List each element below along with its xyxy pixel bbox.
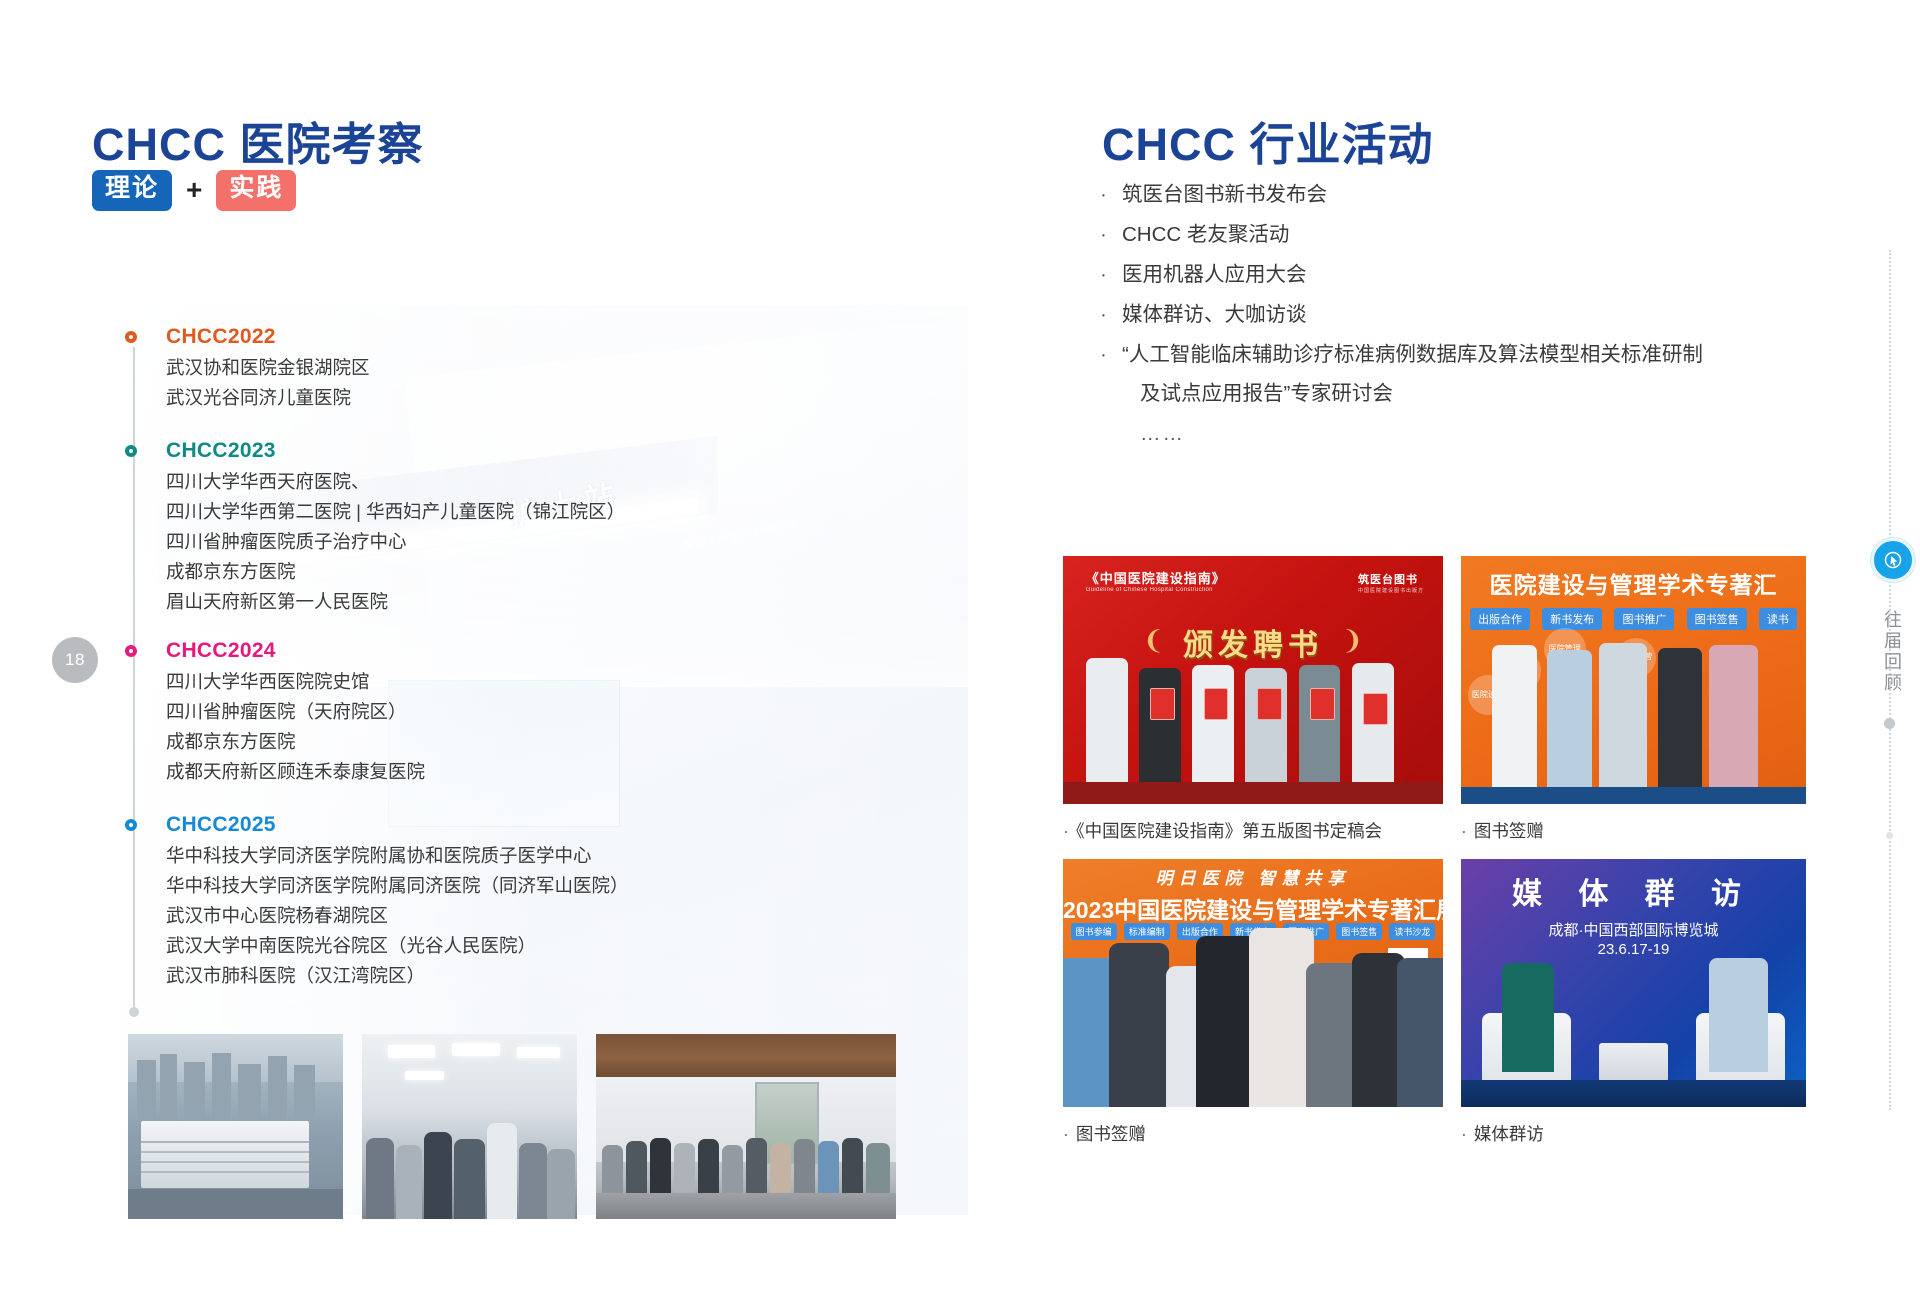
award-ceremony-photo[interactable]: 《中国医院建设指南》 Guideline of Chinese Hospital… — [1063, 556, 1443, 804]
timeline-body: CHCC2022武汉协和医院金银湖院区武汉光谷同济儿童医院 — [166, 325, 838, 413]
timeline-end-dot — [129, 1007, 139, 1017]
media-headline: 媒 体 群 访 — [1461, 869, 1806, 913]
interviewee — [1709, 958, 1768, 1072]
hospital-building — [141, 1121, 309, 1188]
hospital-list-item: 成都京东方医院 — [166, 557, 838, 587]
bullet-icon: · — [1100, 215, 1107, 255]
tag: 图书参编 — [1071, 923, 1117, 940]
attendee — [1249, 928, 1314, 1107]
hospital-list-item: 成都京东方医院 — [166, 727, 838, 757]
gallery-row-1: 《中国医院建设指南》 Guideline of Chinese Hospital… — [1063, 556, 1808, 843]
page-title-hospital-tour: CHCC 医院考察 — [92, 108, 424, 173]
tag: 读书 — [1759, 608, 1797, 630]
gallery-cell-signing: 医院建设与管理学术专著汇 出版合作 新书发布 图书推广 图书签售 读书 医院设计… — [1461, 556, 1806, 843]
bullet-icon: · — [1063, 821, 1069, 841]
activity-label: 媒体群访、大咖访谈 — [1122, 303, 1307, 326]
left-panel: CHCC 医院考察 理论 + 实践 护士站 Nursing Station CH… — [0, 0, 980, 1302]
laurel-right-icon: ❩ — [1341, 625, 1363, 656]
badge-theory: 理论 — [92, 170, 172, 211]
bullet-icon: · — [1100, 335, 1107, 374]
media-venue: 成都·中国西部国际博览城 — [1461, 919, 1806, 940]
hospital-list-item: 武汉光谷同济儿童医院 — [166, 383, 838, 413]
city-block — [137, 1060, 156, 1123]
city-block — [212, 1053, 231, 1123]
gallery-cell-crowd: 明日医院 智慧共享 2023中国医院建设与管理学术专著汇展 图书参编 标准编制 … — [1063, 859, 1443, 1146]
timeline-hospital-list: 四川大学华西天府医院、四川大学华西第二医院 | 华西妇产儿童医院（锦江院区）四川… — [166, 467, 838, 617]
bullet-icon: · — [1461, 1124, 1467, 1144]
city-block — [268, 1056, 287, 1123]
activity-label: CHCC 老友聚活动 — [1122, 223, 1289, 246]
ceiling-lamp — [388, 1045, 435, 1058]
tag: 标准编制 — [1124, 923, 1170, 940]
group-photo — [596, 1034, 896, 1219]
activity-list-item-long: ·“人工智能临床辅助诊疗标准病例数据库及算法模型相关标准研制 — [1100, 335, 1800, 374]
guideline-book-banner: 《中国医院建设指南》 Guideline of Chinese Hospital… — [1086, 568, 1226, 593]
city-block — [238, 1064, 262, 1123]
hospital-list-item: 四川省肿瘤医院（天府院区） — [166, 697, 838, 727]
tag: 图书签售 — [1336, 923, 1382, 940]
signing-person — [1547, 650, 1592, 786]
timeline-body: CHCC2025华中科技大学同济医学院附属协和医院质子医学中心华中科技大学同济医… — [166, 813, 838, 991]
theory-practice-badges: 理论 + 实践 — [92, 170, 296, 211]
timeline-year-label: CHCC2024 — [166, 639, 838, 663]
city-block — [160, 1054, 177, 1122]
gallery-row-2: 明日医院 智慧共享 2023中国医院建设与管理学术专著汇展 图书参编 标准编制 … — [1063, 859, 1808, 1146]
timeline-year-label: CHCC2023 — [166, 439, 838, 463]
hospital-list-item: 武汉大学中南医院光谷院区（光谷人民医院） — [166, 931, 838, 961]
aerial-hospital-photo — [128, 1034, 343, 1219]
exhibition-crowd-photo[interactable]: 明日医院 智慧共享 2023中国医院建设与管理学术专著汇展 图书参编 标准编制 … — [1063, 859, 1443, 1107]
certificate — [1363, 693, 1388, 725]
stage-floor — [1063, 782, 1443, 804]
tag: 新书发布 — [1542, 608, 1602, 630]
page-title-industry-activities: CHCC 行业活动 — [1102, 108, 1434, 173]
visitor-person — [487, 1123, 517, 1219]
media-interview-photo[interactable]: 媒 体 群 访 成都·中国西部国际博览城 23.6.17-19 — [1461, 859, 1806, 1107]
visitor-person — [396, 1145, 422, 1219]
edge-nav-label[interactable]: 往届回顾 — [1881, 610, 1903, 694]
gallery-caption: ·媒体群访 — [1461, 1121, 1806, 1146]
gallery-cell-award: 《中国医院建设指南》 Guideline of Chinese Hospital… — [1063, 556, 1443, 843]
ground-shape — [128, 1189, 343, 1219]
edge-navigation: 往届回顾 — [1860, 0, 1920, 1302]
signing-headline: 医院建设与管理学术专著汇 — [1461, 566, 1806, 600]
activity-list-item: ·媒体群访、大咖访谈 — [1100, 295, 1800, 335]
visitor-person — [547, 1149, 575, 1219]
badge-plus-sign: + — [186, 174, 202, 206]
tag: 读书沙龙 — [1389, 923, 1435, 940]
floor-shape — [596, 1193, 896, 1219]
gallery-caption: ·《中国医院建设指南》第五版图书定稿会 — [1063, 818, 1443, 843]
hospital-list-item: 四川大学华西医院院史馆 — [166, 667, 838, 697]
timeline-item: CHCC2025华中科技大学同济医学院附属协和医院质子医学中心华中科技大学同济医… — [118, 813, 838, 991]
timeline-dot-icon — [125, 445, 137, 457]
certificate — [1150, 688, 1175, 720]
book-signing-photo[interactable]: 医院建设与管理学术专著汇 出版合作 新书发布 图书推广 图书签售 读书 医院设计… — [1461, 556, 1806, 804]
hospital-list-item: 武汉协和医院金银湖院区 — [166, 353, 838, 383]
hospital-list-item: 成都天府新区顾连禾泰康复医院 — [166, 757, 838, 787]
side-table — [1599, 1043, 1668, 1083]
certificate — [1204, 688, 1229, 720]
hospital-list-item: 武汉市中心医院杨春湖院区 — [166, 901, 838, 931]
gallery-cell-media: 媒 体 群 访 成都·中国西部国际博览城 23.6.17-19 ·媒体群访 — [1461, 859, 1806, 1146]
hospital-list-item: 华中科技大学同济医学院附属协和医院质子医学中心 — [166, 841, 838, 871]
signing-person — [1599, 643, 1647, 787]
activity-list-item: ·医用机器人应用大会 — [1100, 255, 1800, 295]
gallery-caption: ·图书签赠 — [1461, 818, 1806, 843]
timeline-hospital-list: 四川大学华西医院院史馆四川省肿瘤医院（天府院区）成都京东方医院成都天府新区顾连禾… — [166, 667, 838, 787]
timeline-dot-icon — [125, 819, 137, 831]
ceremony-headline: 颁发聘书 — [1183, 620, 1323, 664]
timeline-year-label: CHCC2022 — [166, 325, 838, 349]
bullet-icon: · — [1100, 175, 1107, 215]
activity-ellipsis: …… — [1100, 414, 1800, 454]
hospital-list-item: 华中科技大学同济医学院附属同济医院（同济军山医院） — [166, 871, 838, 901]
media-dates: 23.6.17-19 — [1461, 941, 1806, 958]
attendee — [1109, 943, 1170, 1107]
visitor-person — [519, 1143, 547, 1219]
hospital-list-item: 四川省肿瘤医院质子治疗中心 — [166, 527, 838, 557]
hospital-list-item: 武汉市肺科医院（汉江湾院区） — [166, 961, 838, 991]
ceiling-lamp — [405, 1071, 444, 1080]
activity-label: 筑医台图书新书发布会 — [1122, 183, 1327, 206]
timeline-hospital-list: 华中科技大学同济医学院附属协和医院质子医学中心华中科技大学同济医学院附属同济医院… — [166, 841, 838, 991]
activity-label-line2: 及试点应用报告”专家研讨会 — [1100, 374, 1800, 414]
timeline-year-label: CHCC2025 — [166, 813, 838, 837]
gallery-caption: ·图书签赠 — [1063, 1121, 1443, 1146]
tag: 出版合作 — [1470, 608, 1530, 630]
visitor-person — [454, 1139, 484, 1219]
ceremony-person — [1139, 668, 1181, 782]
bullet-icon: · — [1100, 295, 1107, 335]
timeline-item: CHCC2024四川大学华西医院院史馆四川省肿瘤医院（天府院区）成都京东方医院成… — [118, 639, 838, 787]
timeline-body: CHCC2023四川大学华西天府医院、四川大学华西第二医院 | 华西妇产儿童医院… — [166, 439, 838, 617]
tour-photo-strip — [128, 1034, 896, 1219]
ceiling-lamp — [452, 1043, 499, 1056]
timeline-hospital-list: 武汉协和医院金银湖院区武汉光谷同济儿童医院 — [166, 353, 838, 413]
stage-floor — [1461, 1080, 1806, 1107]
edge-nav-dot[interactable] — [1886, 832, 1893, 839]
hospital-tour-timeline: CHCC2022武汉协和医院金银湖院区武汉光谷同济儿童医院CHCC2023四川大… — [118, 325, 838, 991]
timeline-body: CHCC2024四川大学华西医院院史馆四川省肿瘤医院（天府院区）成都京东方医院成… — [166, 639, 838, 787]
signing-person — [1709, 645, 1757, 786]
timeline-item: CHCC2022武汉协和医院金银湖院区武汉光谷同济儿童医院 — [118, 325, 838, 413]
visitor-person — [366, 1138, 394, 1219]
signing-person — [1492, 645, 1537, 786]
laurel-left-icon: ❨ — [1143, 625, 1165, 656]
hospital-visit-photo — [362, 1034, 577, 1219]
interviewer — [1502, 963, 1554, 1072]
cursor-click-icon[interactable] — [1871, 538, 1915, 582]
bullet-icon: · — [1100, 255, 1107, 295]
industry-activity-list: ·筑医台图书新书发布会·CHCC 老友聚活动·医用机器人应用大会·媒体群访、大咖… — [1100, 175, 1800, 454]
ceremony-person — [1245, 668, 1287, 782]
ceremony-person — [1299, 665, 1341, 782]
activity-list-item: ·CHCC 老友聚活动 — [1100, 215, 1800, 255]
certificate — [1257, 688, 1282, 720]
hospital-list-item: 眉山天府新区第一人民医院 — [166, 587, 838, 617]
activity-list-item: ·筑医台图书新书发布会 — [1100, 175, 1800, 215]
signing-person — [1658, 648, 1703, 787]
ceremony-person — [1086, 658, 1128, 782]
city-block — [184, 1062, 206, 1123]
timeline-dot-icon — [125, 645, 137, 657]
activity-label-line1: “人工智能临床辅助诊疗标准病例数据库及算法模型相关标准研制 — [1122, 343, 1703, 366]
bullet-icon: · — [1063, 1124, 1069, 1144]
attendee — [1196, 936, 1257, 1107]
hospital-list-item: 四川大学华西第二医院 | 华西妇产儿童医院（锦江院区） — [166, 497, 838, 527]
ceiling-lamp — [517, 1047, 560, 1058]
badge-practice: 实践 — [216, 170, 296, 211]
ceremony-person — [1192, 665, 1234, 782]
stage-base — [1461, 787, 1806, 804]
visitor-person — [424, 1132, 452, 1219]
timeline-item: CHCC2023四川大学华西天府医院、四川大学华西第二医院 | 华西妇产儿童医院… — [118, 439, 838, 617]
bullet-icon: · — [1461, 821, 1467, 841]
attendee — [1397, 958, 1443, 1107]
exhibition-slogan: 明日医院 智慧共享 — [1063, 864, 1443, 889]
edge-nav-dot[interactable] — [1884, 718, 1895, 729]
hospital-list-item: 四川大学华西天府医院、 — [166, 467, 838, 497]
zhuyitai-logo: 筑医台图书 中国医院建设图书出版方 — [1358, 571, 1424, 594]
tag: 图书推广 — [1614, 608, 1674, 630]
wood-ceiling-shape — [596, 1034, 896, 1077]
signing-tag-row: 出版合作 新书发布 图书推广 图书签售 读书 — [1461, 608, 1806, 630]
tag: 图书签售 — [1687, 608, 1747, 630]
timeline-dot-icon — [125, 331, 137, 343]
certificate — [1310, 688, 1335, 720]
city-block — [294, 1065, 316, 1122]
exhibition-headline: 2023中国医院建设与管理学术专著汇展 — [1063, 891, 1443, 925]
activity-gallery: 《中国医院建设指南》 Guideline of Chinese Hospital… — [1063, 556, 1808, 1162]
activity-label: 医用机器人应用大会 — [1122, 263, 1307, 286]
